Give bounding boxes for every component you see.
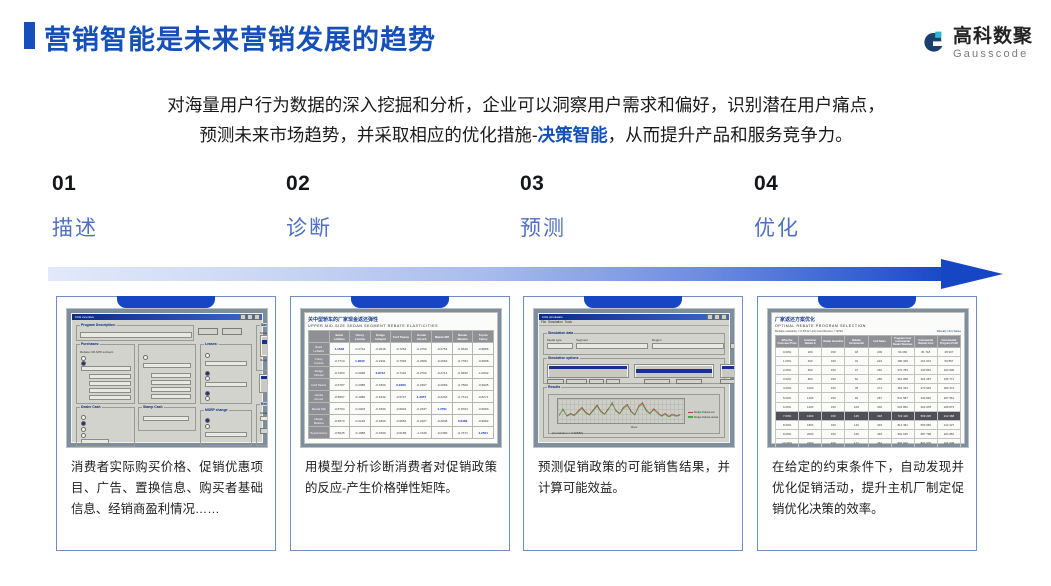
optimal-cell: 509 235 — [914, 411, 937, 420]
matrix-cell: -0.1642 — [370, 391, 391, 403]
sim-clear-all-button[interactable] — [676, 379, 702, 384]
matrix-cell: -0.8490 — [452, 367, 473, 379]
step-2-number: 02 — [286, 172, 486, 196]
matrix-cell: -0.8271 — [473, 391, 494, 403]
matrix-cell: -0.2380 — [432, 427, 453, 439]
optimal-cell: 224 — [868, 357, 891, 366]
matrix-cell: -0.2203 — [350, 403, 371, 415]
optimal-cell: 161 672 — [914, 357, 937, 366]
segment-select[interactable] — [576, 343, 648, 349]
optimal-cell: 200 — [799, 348, 822, 357]
dialog-title: CUE incentive — [73, 315, 94, 319]
rate-60mo-select[interactable] — [151, 394, 191, 399]
matrix-cell: -0.9663 — [473, 403, 494, 415]
card-2-caption: 用模型分析诊断消费者对促销政策的反应-产生价格弹性矩阵。 — [305, 457, 497, 499]
results-chart: Dodge Dakota est Dodge Dakota actual Wee… — [548, 394, 720, 434]
optimal-cell: 687 798 — [914, 429, 937, 438]
radio-msrp-pct[interactable] — [205, 424, 210, 429]
optimal-cell: 287 — [868, 393, 891, 402]
optimal-subtitle-left: Rebate elasticity = 0.8712 Unit Contribu… — [775, 329, 843, 333]
optimal-row: 10.00%2200150171364992 910801 675191 038 — [776, 438, 961, 447]
optimal-row: 6.00%1400150109302631 852402 978208 873 — [776, 402, 961, 411]
optimal-cell: 94 — [845, 393, 868, 402]
optimal-cell: 541 587 — [891, 393, 914, 402]
matrix-row-label: Honda Accord — [309, 391, 330, 403]
matrix-col-7: Toyota Camry — [473, 331, 494, 343]
optimal-cell: 402 978 — [914, 402, 937, 411]
step-4-number: 04 — [754, 172, 954, 196]
matrix-cell: -0.7254 — [391, 343, 412, 355]
group-results-label: Results — [547, 385, 561, 389]
matrix-cell: -0.1560 — [370, 427, 391, 439]
step-4: 04 优化 — [754, 172, 954, 242]
purchases-sub-label: Rebate OR APR subvent — [80, 350, 113, 354]
slide-root: 营销智能是未来营销发展的趋势 高科数聚 Gausscode 对海量用户行为数据的… — [0, 0, 1051, 586]
scenarios-listbox[interactable] — [547, 364, 629, 378]
step-2: 02 诊断 — [286, 172, 486, 242]
optimal-subtitle: Rebate elasticity = 0.8712 Unit Contribu… — [775, 329, 961, 333]
matrix-cell: 1.2057 — [411, 391, 432, 403]
lease-cash-input[interactable] — [205, 361, 247, 366]
intro-paragraph: 对海量用户行为数据的深入挖掘和分析，企业可以洞察用户需求和偏好，识别潜在用户痛点… — [52, 90, 1000, 150]
optimal-row: 1.00%40015031224180 329161 67250 857 — [776, 357, 961, 366]
group-dealer-cash: Dealer Cash — [76, 407, 135, 447]
card-1[interactable]: CUE incentive Program Description: Purch… — [56, 296, 276, 551]
optimal-cell: 150 — [822, 348, 845, 357]
move-updown-button[interactable] — [606, 379, 620, 384]
matrix-cell: -0.7314 — [452, 391, 473, 403]
matrix-cell: -0.7371 — [452, 427, 473, 439]
optimal-cell: 150 — [822, 411, 845, 420]
optimal-cell: 150 — [822, 393, 845, 402]
purchase-36mo-input[interactable] — [89, 381, 131, 386]
elasticity-matrix: Buick LeSabre Chevy Lumina Dodge Intrepi… — [308, 330, 494, 439]
group-results: Results Dodge Dakota est Dodge Dakota — [543, 387, 725, 438]
matrix-cell: -0.2088 — [350, 379, 371, 391]
matrix-cell: -0.1860 — [370, 379, 391, 391]
sim-select-all-button[interactable] — [644, 379, 670, 384]
optimal-title-en: OPTIMAL REBATE PROGRAM SELECTION — [775, 324, 961, 328]
optimal-cell: 271 — [868, 384, 891, 393]
radio-msrp-amount[interactable] — [205, 418, 210, 423]
purchase-24mo-input[interactable] — [89, 374, 131, 379]
remove-button[interactable] — [566, 379, 587, 384]
radio-apr[interactable] — [205, 376, 210, 381]
logo-name-cn: 高科数聚 — [953, 27, 1033, 46]
optimal-cell: 333 — [868, 420, 891, 429]
group-program-description: Program Description: — [76, 325, 194, 341]
group-simulation-options: Simulation options — [543, 358, 725, 384]
optimal-cell: 9.00% — [776, 429, 799, 438]
optimal-cell: 78 — [845, 384, 868, 393]
matrix-cell: 0.9480 — [391, 379, 412, 391]
model-type-select[interactable] — [547, 343, 573, 349]
optimal-cell: 209 — [868, 348, 891, 357]
stamp-cash-input[interactable] — [143, 416, 189, 421]
group-stamp-cash: Stamp Cash — [138, 407, 196, 431]
dealer-cash-select[interactable] — [81, 439, 109, 444]
optimal-cell: 156 771 — [937, 375, 960, 384]
group-purchases-label: Purchases: — [80, 342, 100, 346]
purchase-amount-input[interactable] — [81, 366, 131, 371]
matrix-row-label: Toyota Camry — [309, 427, 330, 439]
matrix-row: Nissan Maxima-0.6573-0.2149-0.1869-0.605… — [309, 415, 494, 427]
matrix-cell: 0.8712 — [370, 367, 391, 379]
optimal-cell: 150 — [822, 438, 845, 447]
progress-arrow — [48, 262, 1003, 288]
matrix-cell: -0.2669 — [432, 379, 453, 391]
matrix-cell: -0.9808 — [473, 355, 494, 367]
optimal-cell: 150 — [822, 429, 845, 438]
matrix-cell: -0.6189 — [391, 427, 412, 439]
optimal-cell: 992 910 — [891, 438, 914, 447]
matrix-cell: -0.7500 — [452, 379, 473, 391]
matrix-row-label: Nissan Maxima — [309, 415, 330, 427]
card-4-caption: 在给定的约束条件下，自动发现并优化促销活动，提升主机厂制定促销优化决策的效率。 — [772, 457, 964, 520]
matrix-cell: -0.6904 — [391, 403, 412, 415]
card-2-tab — [351, 296, 449, 308]
optimal-cell: 2.00% — [776, 366, 799, 375]
group-program-description-label: Program Description: — [80, 323, 117, 327]
rate-subvent-input[interactable] — [205, 382, 247, 387]
matrix-cell: -0.9896 — [473, 343, 494, 355]
optimal-cell: 255 — [868, 375, 891, 384]
card-4[interactable]: 厂家返还方案优化 OPTIMAL REBATE PROGRAM SELECTIO… — [757, 296, 977, 551]
optimal-cell: 0.00% — [776, 348, 799, 357]
matrix-row: Mazda 626-0.6764-0.2203-0.1890-0.6904-0.… — [309, 403, 494, 415]
card-row: CUE incentive Program Description: Purch… — [0, 296, 1051, 556]
card-1-caption: 消费者实际购买价格、促销优惠项目、广告、置换信息、购买者基础信息、经销商盈利情况… — [71, 457, 263, 520]
optimal-cell: 364 — [868, 438, 891, 447]
matrix-cell: -0.9982 — [473, 415, 494, 427]
legend-item-actual: Dodge Dakota actual — [688, 416, 718, 419]
optimal-cell: 156 — [845, 429, 868, 438]
matrix-cell: -0.2337 — [411, 403, 432, 415]
matrix-cell: -0.5645 — [329, 427, 350, 439]
close-button[interactable] — [222, 328, 242, 335]
optimal-col-0: Effective Customer Price — [776, 336, 799, 348]
matrix-cell: -0.8340 — [452, 343, 473, 355]
matrix-row: Buick LeSabre1.1548-0.2742-0.2018-0.7254… — [309, 343, 494, 355]
matrix-cell: -0.2752 — [411, 343, 432, 355]
add-button[interactable] — [547, 379, 564, 384]
optimal-cell: 109 — [845, 402, 868, 411]
matrix-col-0: Buick LeSabre — [329, 331, 350, 343]
optimal-cell: 18 — [845, 348, 868, 357]
simulation-menubar[interactable]: File Simulation Tools — [539, 320, 729, 326]
optimal-row: 5.00%120015094287541 587340 846187 561 — [776, 393, 961, 402]
card-1-tab — [117, 296, 215, 308]
window-controls[interactable] — [240, 314, 261, 320]
radio-lease-only[interactable] — [81, 433, 86, 438]
matrix-col-1: Chevy Lumina — [350, 331, 371, 343]
retrieve-model-label: Model — [260, 411, 268, 415]
logo-text: 高科数聚 Gausscode — [953, 27, 1033, 60]
optimal-cell: 812 381 — [891, 420, 914, 429]
card-2-screenshot: 关中型轿车的厂家现金返还弹性 UPPER MID-SIZE SEDAN SEGM… — [300, 308, 502, 448]
optimal-cell: 631 852 — [891, 402, 914, 411]
optimal-col-3: Rebate Incremental — [845, 336, 868, 348]
matrix-cell: 0.6480 — [452, 415, 473, 427]
correlation-text: (Correlation = 0.96580) — [552, 431, 583, 435]
group-save-incentives-label: Save incentives — [260, 323, 268, 327]
optimal-cell: 1000 — [799, 384, 822, 393]
radio-select-cash-fin[interactable] — [81, 421, 86, 426]
optimal-cell: 171 — [845, 438, 868, 447]
optimal-col-4: Unit Sales — [868, 336, 891, 348]
msrp-change-input[interactable] — [205, 432, 247, 437]
step-4-label: 优化 — [754, 212, 954, 242]
optimal-row: 8.00%1800150140333812 381599 950212 427 — [776, 420, 961, 429]
optimal-cell: 599 950 — [914, 420, 937, 429]
elasticity-title-en: UPPER MID-SIZE SEDAN SEGMENT REBATE ELAS… — [308, 324, 494, 328]
optimal-cell: 1800 — [799, 420, 822, 429]
optimal-title-cn: 厂家返还方案优化 — [775, 316, 961, 323]
matrix-cell: -0.7204 — [329, 367, 350, 379]
model-type-label: Model type — [547, 338, 562, 342]
optimal-cell: 800 — [799, 375, 822, 384]
group-msrp-change: MSRP change — [200, 410, 252, 446]
segment-label: Segment — [576, 338, 588, 342]
step-labels: 01 描述 02 诊断 03 预测 04 优化 — [0, 172, 1051, 252]
matrix-cell: -0.1986 — [350, 391, 371, 403]
matrix-row: Honda Accord-0.5897-0.1986-0.1642-0.5747… — [309, 391, 494, 403]
optimal-cell: 150 — [822, 384, 845, 393]
intro-line-1: 对海量用户行为数据的深入挖掘和分析，企业可以洞察用户需求和偏好，识别潜在用户痛点… — [167, 95, 885, 115]
regions-listbox[interactable] — [259, 374, 268, 393]
slide-header: 营销智能是未来营销发展的趋势 高科数聚 Gausscode — [0, 0, 1051, 72]
chart-legend: Dodge Dakota est Dodge Dakota actual — [688, 411, 718, 420]
optimal-cell: 187 561 — [937, 393, 960, 402]
optimal-row: 4.00%100015078271451 323270 949180 374 — [776, 384, 961, 393]
optimal-row: 9.00%2000150156349902 645687 798204 881 — [776, 429, 961, 438]
region-select[interactable] — [652, 343, 724, 349]
rate-24mo-select[interactable] — [151, 373, 191, 378]
step-3-label: 预测 — [520, 212, 720, 242]
matrix-cell: -0.2293 — [432, 391, 453, 403]
matrix-cell: -0.2407 — [411, 415, 432, 427]
optimal-cell: 31 — [845, 357, 868, 366]
matrix-cell: -1.7436 — [411, 427, 432, 439]
output-options-listbox[interactable] — [720, 364, 735, 378]
matrix-cell: -0.2754 — [432, 343, 453, 355]
matrix-cell: 1.1548 — [329, 343, 350, 355]
optimal-cell: 28 307 — [937, 348, 960, 357]
step-3: 03 预测 — [520, 172, 720, 242]
radio-not-offered[interactable] — [143, 355, 148, 360]
radio-cash-only[interactable] — [81, 415, 86, 420]
optimal-cell: 801 675 — [914, 438, 937, 447]
optimal-cell: 400 — [799, 357, 822, 366]
series-actual-line — [559, 402, 680, 417]
simulation-window: CUE simulation File Simulation Tools Sim… — [538, 313, 730, 443]
matrix-cell: -0.2028 — [350, 367, 371, 379]
optimal-cell: 150 — [822, 402, 845, 411]
elasticity-table-window: 关中型轿车的厂家现金返还弹性 UPPER MID-SIZE SEDAN SEGM… — [304, 312, 498, 444]
optimal-cell: 340 846 — [914, 393, 937, 402]
rate-36mo-select[interactable] — [151, 380, 191, 385]
dialog-window: CUE incentive Program Description: Purch… — [71, 313, 263, 443]
step-1-label: 描述 — [52, 212, 252, 242]
group-msrp-change-label: MSRP change — [204, 408, 229, 412]
optimal-cell: 2000 — [799, 429, 822, 438]
optimal-cell: 212 427 — [937, 420, 960, 429]
radio-all-cash-fin-lease[interactable] — [81, 427, 86, 432]
optimal-cell: 8.00% — [776, 420, 799, 429]
matrix-row-label: Chevy Lumina — [309, 355, 330, 367]
optimal-cell: 125 — [845, 411, 868, 420]
optimal-cell: 722 116 — [891, 411, 914, 420]
logo-mark-icon — [920, 30, 946, 56]
matrix-cell: -0.2018 — [370, 343, 391, 355]
purchase-60mo-input[interactable] — [89, 395, 131, 400]
card-3-screenshot: CUE simulation File Simulation Tools Sim… — [533, 308, 735, 448]
rate-input[interactable] — [143, 363, 191, 368]
optimal-cell: 180 374 — [937, 384, 960, 393]
matrix-cell: 4.2561 — [473, 427, 494, 439]
program-description-input[interactable] — [80, 332, 192, 338]
optimal-col-2: Dealer Incentive — [822, 336, 845, 348]
optimal-cell: 6.00% — [776, 402, 799, 411]
optimal-cell: 270 784 — [891, 366, 914, 375]
run-sim-button[interactable] — [730, 343, 735, 349]
save-button[interactable] — [198, 328, 218, 335]
radio-no-subvention[interactable] — [205, 353, 210, 358]
graph-button[interactable] — [720, 379, 735, 384]
step-1: 01 描述 — [52, 172, 252, 242]
matrix-cell: -0.5897 — [329, 391, 350, 403]
edit-button[interactable] — [589, 379, 604, 384]
matrix-col-5: Mazda 626 — [432, 331, 453, 343]
optimal-table: Effective Customer Price Customer Rebate… — [775, 335, 961, 448]
retrieve-model-select[interactable] — [260, 416, 268, 421]
optimal-cell: 90 260 — [891, 348, 914, 357]
optimal-col-7: Incremental Program Profit — [937, 336, 960, 348]
optimal-cell: 50 857 — [937, 357, 960, 366]
group-purchases-left: Purchases: Rebate OR APR subvent — [76, 344, 135, 404]
matrix-cell: -0.6787 — [329, 379, 350, 391]
matrix-row-label: Buick LeSabre — [309, 343, 330, 355]
card-3-caption: 预测促销政策的可能销售结果，并计算可能效益。 — [538, 457, 730, 499]
group-simulation-options-label: Simulation options — [547, 356, 580, 360]
optimal-cell: 302 — [868, 402, 891, 411]
card-3[interactable]: CUE simulation File Simulation Tools Sim… — [523, 296, 743, 551]
matrix-cell: -0.2742 — [350, 343, 371, 355]
models-listbox[interactable] — [260, 335, 268, 357]
matrix-cell: -0.9925 — [473, 379, 494, 391]
arrow-bar — [48, 267, 953, 281]
card-4-screenshot: 厂家返还方案优化 OPTIMAL REBATE PROGRAM SELECTIO… — [767, 308, 969, 448]
optimal-cell: 150 — [822, 375, 845, 384]
optimal-cell: 1.00% — [776, 357, 799, 366]
dialog-titlebar: CUE incentive — [72, 314, 262, 320]
matrix-cell: -0.1869 — [370, 415, 391, 427]
matrix-col-4: Honda Accord — [411, 331, 432, 343]
group-leases-label: Leases: — [204, 342, 219, 346]
matrix-row: Dodge Intrepid-0.7204-0.20280.8712-0.711… — [309, 367, 494, 379]
optimal-cell: 451 323 — [891, 384, 914, 393]
optimal-row: 3.00%80015062255361 058324 287156 771 — [776, 375, 961, 384]
optimal-cell: 600 — [799, 366, 822, 375]
group-leases: Leases: — [200, 344, 252, 404]
matrix-row: Chevy Lumina-0.77131.2633-0.1991-0.7093-… — [309, 355, 494, 367]
step-1-number: 01 — [52, 172, 252, 196]
region-label: Region — [652, 338, 662, 342]
matrix-cell: -0.6764 — [329, 403, 350, 415]
matrix-cell: -0.1991 — [370, 355, 391, 367]
optimal-cell: 62 — [845, 375, 868, 384]
optimal-col-5: Program Cost Incremental Dealer Revenue — [891, 336, 914, 348]
card-2[interactable]: 关中型轿车的厂家现金返还弹性 UPPER MID-SIZE SEDAN SEGM… — [290, 296, 510, 551]
optimal-row: 7.00%1600150125318722 116509 235212 368 — [776, 411, 961, 420]
group-retrieve-incentives: Retrieve incentives Model Region — [256, 404, 268, 446]
optimal-cell: 7.00% — [776, 411, 799, 420]
simulation-title: CUE simulation — [540, 315, 563, 319]
optimal-subtitle-right: Weekly Unit Sales — [937, 329, 961, 333]
rate-48mo-select[interactable] — [151, 387, 191, 392]
optimal-cell: 140 — [845, 420, 868, 429]
matrix-cell: -1.0602 — [473, 367, 494, 379]
optimal-cell: 5.00% — [776, 393, 799, 402]
optimal-header-row: Effective Customer Price Customer Rebate… — [776, 336, 961, 348]
optimal-cell: 204 881 — [937, 429, 960, 438]
matrix-cell: -0.1988 — [350, 427, 371, 439]
matrix-row-label: Ford Taurus — [309, 379, 330, 391]
matrix-cell: -0.7784 — [452, 355, 473, 367]
optimal-cell: 1600 — [799, 411, 822, 420]
simulation-window-controls[interactable] — [707, 314, 728, 320]
step-3-number: 03 — [520, 172, 720, 196]
purchase-48mo-input[interactable] — [89, 388, 131, 393]
optimal-cell: 208 873 — [937, 402, 960, 411]
chart-xlabel: Week — [549, 426, 719, 429]
group-dealer-cash-label: Dealer Cash — [80, 405, 102, 409]
title-accent-bar — [24, 22, 35, 49]
legend-item-estimate: Dodge Dakota est — [688, 411, 718, 414]
matrix-row: Ford Taurus-0.6787-0.2088-0.18600.9480-0… — [309, 379, 494, 391]
elasticity-title-cn: 关中型轿车的厂家现金返还弹性 — [308, 316, 494, 323]
radio-pct-msrp[interactable] — [205, 396, 210, 401]
optimal-cell: 902 645 — [891, 429, 914, 438]
brand-logo: 高科数聚 Gausscode — [920, 22, 1033, 64]
matrix-cell: 1.2633 — [350, 355, 371, 367]
regions-label: Region(s) — [260, 358, 268, 362]
matrix-row-label: Dodge Intrepid — [309, 367, 330, 379]
optimal-row: 2.00%60015047240270 784240 842104 900 — [776, 366, 961, 375]
matrix-row-label: Mazda 626 — [309, 403, 330, 415]
matrix-col-6: Nissan Maxima — [452, 331, 473, 343]
optimal-cell: 10.00% — [776, 438, 799, 447]
arrow-head-icon — [941, 259, 1003, 289]
matrix-cell: -0.2606 — [411, 355, 432, 367]
optimal-cell: 318 — [868, 411, 891, 420]
clear-button[interactable] — [260, 428, 268, 434]
matrix-header-row: Buick LeSabre Chevy Lumina Dodge Intrepi… — [309, 331, 494, 343]
optimal-col-1: Customer Rebate $ — [799, 336, 822, 348]
optimal-cell: 2200 — [799, 438, 822, 447]
matrix-cell: -0.7110 — [391, 367, 412, 379]
optimal-cell: 81 718 — [914, 348, 937, 357]
card-3-tab — [584, 296, 682, 308]
optimal-cell: 349 — [868, 429, 891, 438]
intro-highlight: 决策智能 — [538, 125, 608, 145]
group-retrieve-incentives-label: Retrieve incentives — [260, 402, 268, 406]
models-sim-listbox[interactable] — [634, 364, 714, 378]
optimal-cell: 47 — [845, 366, 868, 375]
card-1-screenshot: CUE incentive Program Description: Purch… — [66, 308, 268, 448]
matrix-cell: 1.4791 — [432, 403, 453, 415]
optimal-cell: 240 842 — [914, 366, 937, 375]
